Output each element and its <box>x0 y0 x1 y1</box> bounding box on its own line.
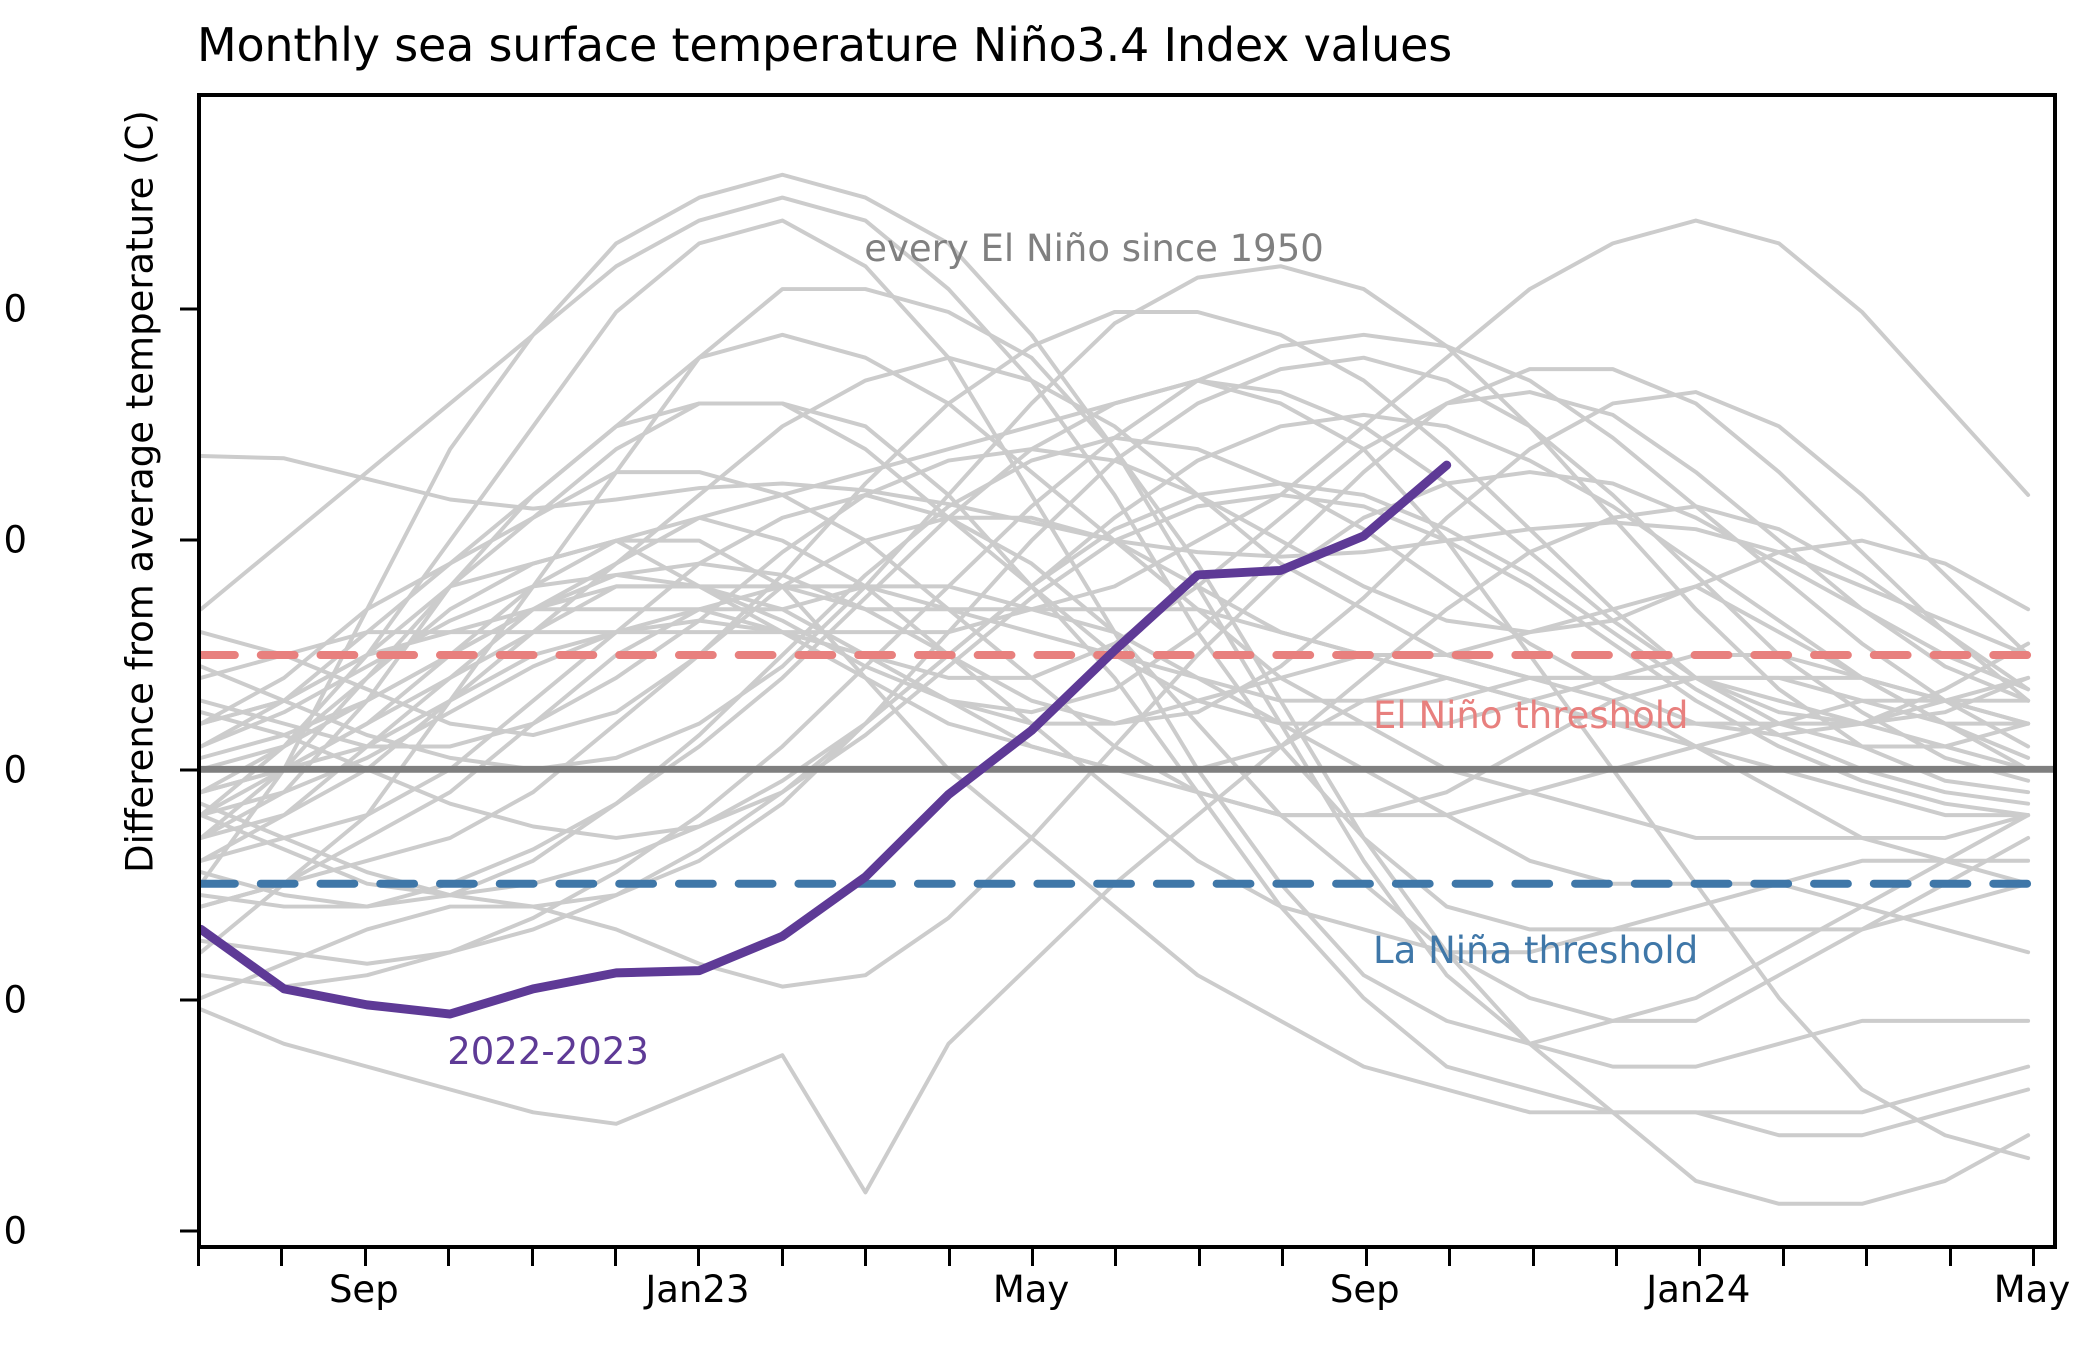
x-tick-mark <box>614 1249 617 1266</box>
y-tick-mark <box>180 1229 197 1232</box>
x-tick-mark <box>1031 1249 1034 1266</box>
historical-label: every El Niño since 1950 <box>864 227 1324 270</box>
y-tick-label: 2.0 <box>0 288 27 331</box>
chart-title: Monthly sea surface temperature Niño3.4 … <box>197 18 2057 72</box>
x-tick-label: May <box>993 1268 1070 1311</box>
chart-figure: Monthly sea surface temperature Niño3.4 … <box>0 0 2093 1348</box>
x-tick-mark <box>1949 1249 1952 1266</box>
y-tick-label: 0.0 <box>0 749 27 792</box>
x-tick-mark <box>1782 1249 1785 1266</box>
x-tick-label: Jan24 <box>1646 1268 1750 1311</box>
y-tick-mark <box>180 999 197 1002</box>
y-tick-mark <box>180 308 197 311</box>
y-tick-mark <box>180 538 197 541</box>
x-tick-mark <box>1865 1249 1868 1266</box>
x-tick-mark <box>280 1249 283 1266</box>
y-tick-mark <box>180 769 197 772</box>
x-tick-label: Sep <box>329 1268 399 1311</box>
x-tick-mark <box>1698 1249 1701 1266</box>
x-tick-mark <box>948 1249 951 1266</box>
la-nina-threshold-label: La Niña threshold <box>1373 929 1698 972</box>
x-tick-mark <box>364 1249 367 1266</box>
current-event-label: 2022-2023 <box>447 1030 649 1073</box>
x-tick-mark <box>1198 1249 1201 1266</box>
x-tick-mark <box>1532 1249 1535 1266</box>
y-tick-label: -2.0 <box>0 1209 27 1252</box>
x-tick-mark <box>531 1249 534 1266</box>
x-tick-mark <box>1114 1249 1117 1266</box>
x-tick-mark <box>197 1249 200 1266</box>
x-tick-mark <box>1281 1249 1284 1266</box>
x-tick-label: May <box>1994 1268 2071 1311</box>
y-tick-label: -1.0 <box>0 979 27 1022</box>
reference-lines <box>201 655 2053 884</box>
x-tick-mark <box>1615 1249 1618 1266</box>
x-tick-mark <box>864 1249 867 1266</box>
x-tick-mark <box>447 1249 450 1266</box>
x-tick-mark <box>1448 1249 1451 1266</box>
x-tick-mark <box>1365 1249 1368 1266</box>
x-tick-mark <box>2032 1249 2035 1266</box>
x-tick-mark <box>697 1249 700 1266</box>
y-axis-label: Difference from average temperature (C) <box>119 52 162 932</box>
x-tick-label: Jan23 <box>645 1268 749 1311</box>
el-nino-threshold-label: El Niño threshold <box>1373 694 1688 737</box>
y-tick-label: 1.0 <box>0 518 27 561</box>
x-tick-mark <box>781 1249 784 1266</box>
x-tick-label: Sep <box>1330 1268 1400 1311</box>
